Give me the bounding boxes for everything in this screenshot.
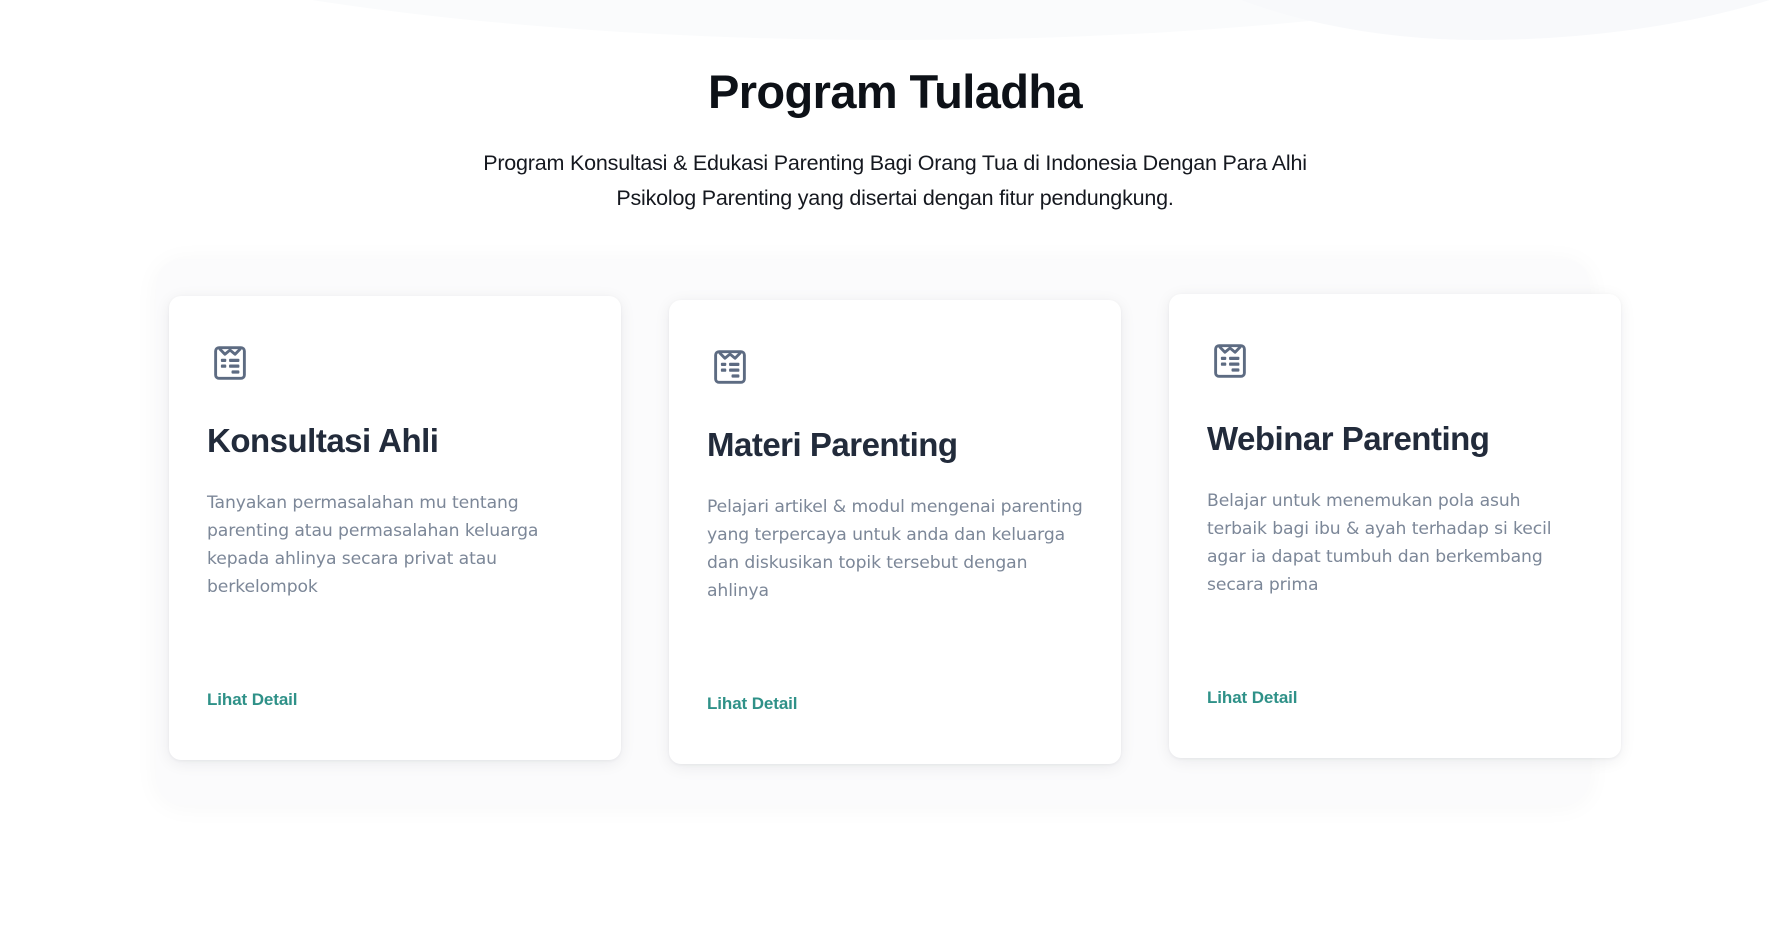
program-card-konsultasi-ahli[interactable]: Konsultasi Ahli Tanyakan permasalahan mu… [169, 296, 621, 760]
program-cards-row: Konsultasi Ahli Tanyakan permasalahan mu… [0, 296, 1790, 764]
program-card-webinar-parenting[interactable]: Webinar Parenting Belajar untuk menemuka… [1169, 294, 1621, 758]
subtitle-line-2: Psikolog Parenting yang disertai dengan … [616, 186, 1173, 210]
card-description: Belajar untuk menemukan pola asuh terbai… [1207, 488, 1583, 599]
page-title: Program Tuladha [0, 66, 1790, 118]
card-description: Tanyakan permasalahan mu tentang parenti… [207, 490, 583, 601]
note-document-icon [1207, 338, 1253, 384]
card-description: Pelajari artikel & modul mengenai parent… [707, 494, 1083, 605]
program-tuladha-section: Program Tuladha Program Konsultasi & Edu… [0, 0, 1790, 930]
card-title: Materi Parenting [707, 426, 1083, 464]
note-document-icon [207, 340, 253, 386]
lihat-detail-link[interactable]: Lihat Detail [1207, 688, 1297, 708]
lihat-detail-link[interactable]: Lihat Detail [707, 694, 797, 714]
section-header: Program Tuladha Program Konsultasi & Edu… [0, 0, 1790, 215]
program-card-materi-parenting[interactable]: Materi Parenting Pelajari artikel & modu… [669, 300, 1121, 764]
card-title: Webinar Parenting [1207, 420, 1583, 458]
section-subtitle: Program Konsultasi & Edukasi Parenting B… [430, 146, 1360, 216]
lihat-detail-link[interactable]: Lihat Detail [207, 690, 297, 710]
card-title: Konsultasi Ahli [207, 422, 583, 460]
subtitle-line-1: Program Konsultasi & Edukasi Parenting B… [483, 151, 1307, 175]
note-document-icon [707, 344, 753, 390]
